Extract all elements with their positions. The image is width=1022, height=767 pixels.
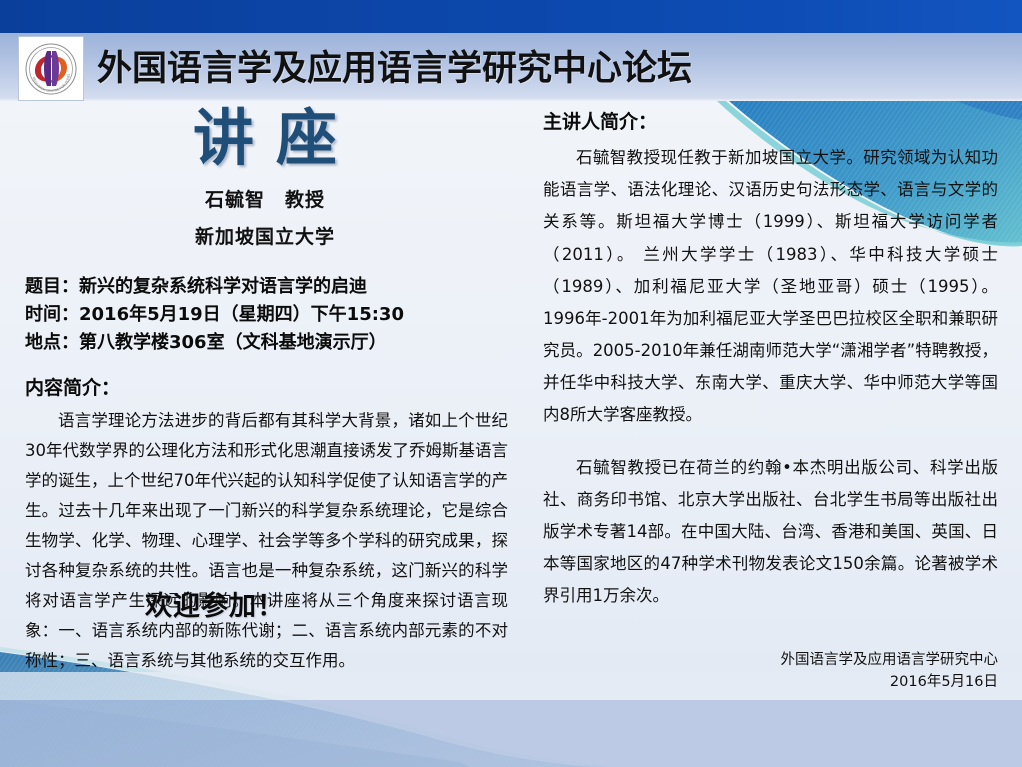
signature-organization: 外国语言学及应用语言学研究中心 <box>543 650 998 672</box>
lecture-headline: 讲座 <box>20 107 510 171</box>
event-location-line: 地点：第八教学楼306室（文科基地演示厅） <box>25 329 510 357</box>
bio-heading: 主讲人简介： <box>543 107 998 134</box>
welcome-message: 欢迎参加！ <box>145 584 285 623</box>
bio-paragraph-1: 石毓智教授现任教于新加坡国立大学。研究领域为认知功能语言学、语法化理论、汉语历史… <box>543 142 998 432</box>
top-accent-strip <box>0 0 1022 33</box>
event-time-line: 时间：2016年5月19日（星期四）下午15:30 <box>25 301 510 329</box>
summary-heading: 内容简介： <box>20 373 510 400</box>
signature-date: 2016年5月16日 <box>543 672 998 694</box>
right-column: 主讲人简介： 石毓智教授现任教于新加坡国立大学。研究领域为认知功能语言学、语法化… <box>543 101 998 694</box>
event-topic-line: 题目：新兴的复杂系统科学对语言学的启迪 <box>25 273 510 301</box>
lecture-poster: RESEARCH CENTRE FOR FOREIGN LINGUISTICS … <box>0 0 1022 767</box>
summary-body: 语言学理论方法进步的背后都有其科学大背景，诸如上个世纪30年代数学界的公理化方法… <box>20 406 510 676</box>
signature-block: 外国语言学及应用语言学研究中心 2016年5月16日 <box>543 650 998 694</box>
speaker-name: 石毓智 教授 <box>20 185 510 212</box>
poster-content: 讲座 石毓智 教授 新加坡国立大学 题目：新兴的复杂系统科学对语言学的启迪 时间… <box>0 101 1022 767</box>
organization-logo: RESEARCH CENTRE FOR FOREIGN LINGUISTICS <box>18 36 84 101</box>
page-title: 外国语言学及应用语言学研究中心论坛 <box>97 40 692 91</box>
bio-paragraph-2: 石毓智教授已在荷兰的约翰•本杰明出版公司、科学出版社、商务印书馆、北京大学出版社… <box>543 452 998 613</box>
speaker-affiliation: 新加坡国立大学 <box>20 222 510 249</box>
event-details: 题目：新兴的复杂系统科学对语言学的启迪 时间：2016年5月19日（星期四）下午… <box>20 273 510 357</box>
emblem-icon: RESEARCH CENTRE FOR FOREIGN LINGUISTICS <box>23 41 79 97</box>
